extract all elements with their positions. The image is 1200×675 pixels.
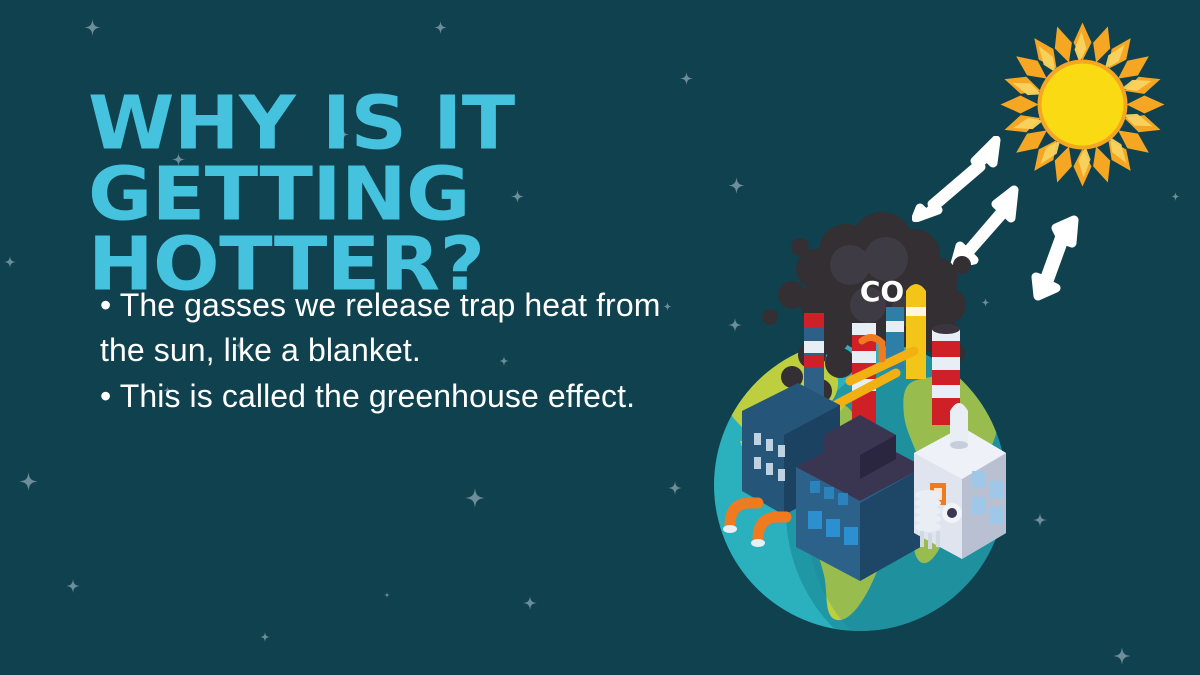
earth-with-factory-illustration: CO 2 <box>700 195 1040 640</box>
slide-canvas: WHY IS IT GETTING HOTTER? • The gasses w… <box>0 0 1200 675</box>
sparkle-star-icon <box>1171 192 1180 201</box>
sparkle-star-icon <box>384 592 390 598</box>
bullet-item-1: • The gasses we release trap heat from t… <box>100 283 700 374</box>
sun-icon <box>1000 22 1165 187</box>
sun-rays <box>1001 23 1165 187</box>
sun-core <box>1042 64 1124 146</box>
sparkle-star-icon <box>260 632 270 642</box>
sparkle-star-icon <box>668 481 682 495</box>
sparkle-star-icon <box>680 72 693 85</box>
sparkle-star-icon <box>19 472 38 491</box>
sparkle-star-icon <box>523 596 537 610</box>
body-copy: • The gasses we release trap heat from t… <box>100 283 700 419</box>
sparkle-star-icon <box>1113 647 1131 665</box>
sparkle-star-icon <box>84 19 101 36</box>
sparkle-star-icon <box>66 579 80 593</box>
sparkle-star-icon <box>4 256 16 268</box>
co2-label: CO <box>860 275 904 308</box>
bullet-item-2: • This is called the greenhouse effect. <box>100 374 700 419</box>
sparkle-star-icon <box>465 488 485 508</box>
sparkle-star-icon <box>434 21 447 34</box>
